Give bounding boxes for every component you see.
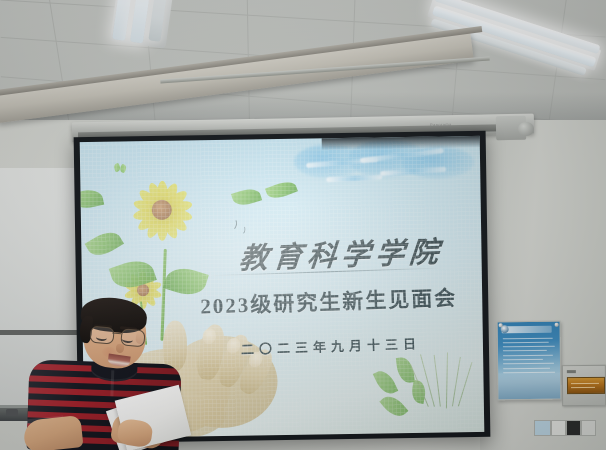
poster-header-band [502, 326, 552, 334]
plaque-cap [567, 370, 576, 373]
glasses-lens [120, 328, 145, 347]
projector-screen-roller-knob[interactable] [518, 122, 534, 136]
wall-plaque [562, 365, 606, 406]
poster-pin [499, 323, 503, 327]
wall-sticker [581, 420, 596, 436]
wall-sticker [534, 420, 551, 436]
projector-screen-brand-label: Panorama [430, 122, 452, 127]
wall-sticker [566, 420, 581, 436]
poster-pin [555, 323, 559, 327]
classroom-photo: Panorama [0, 0, 606, 450]
poster-photo-area [498, 373, 560, 400]
screen-top-shadow [322, 136, 480, 150]
wall-poster [497, 321, 562, 401]
plaque-face [567, 377, 605, 394]
glasses-lens [89, 326, 114, 345]
speaker [8, 300, 213, 450]
wall-sticker [551, 420, 566, 436]
